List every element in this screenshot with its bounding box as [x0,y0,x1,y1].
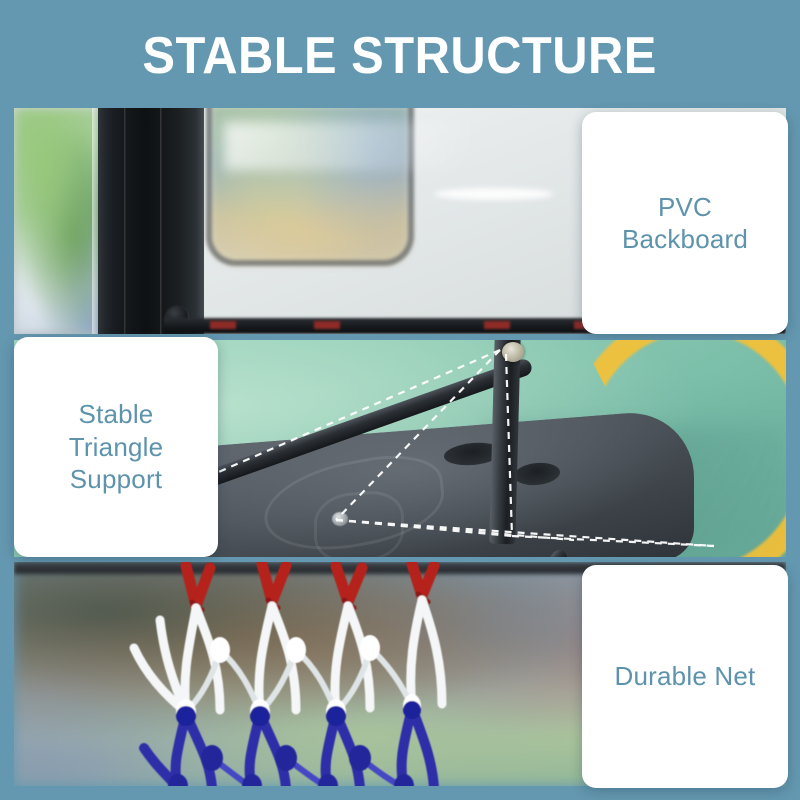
callout-triangle-support: Stable Triangle Support [14,337,218,557]
board-glare-streak [434,188,554,200]
red-accent-mark [484,321,510,329]
board-glare [224,122,474,170]
header-bar: STABLE STRUCTURE [0,0,800,108]
red-accent-mark [314,321,340,329]
page-title: STABLE STRUCTURE [143,26,657,82]
callout-durable-net: Durable Net [582,565,788,788]
callout-label-pvc-backboard: PVC Backboard [582,191,788,256]
callout-label-durable-net: Durable Net [601,660,770,693]
callout-pvc-backboard: PVC Backboard [582,112,788,334]
red-accent-mark [210,321,236,329]
callout-label-triangle-support: Stable Triangle Support [14,398,218,496]
black-support-pole [98,108,204,334]
